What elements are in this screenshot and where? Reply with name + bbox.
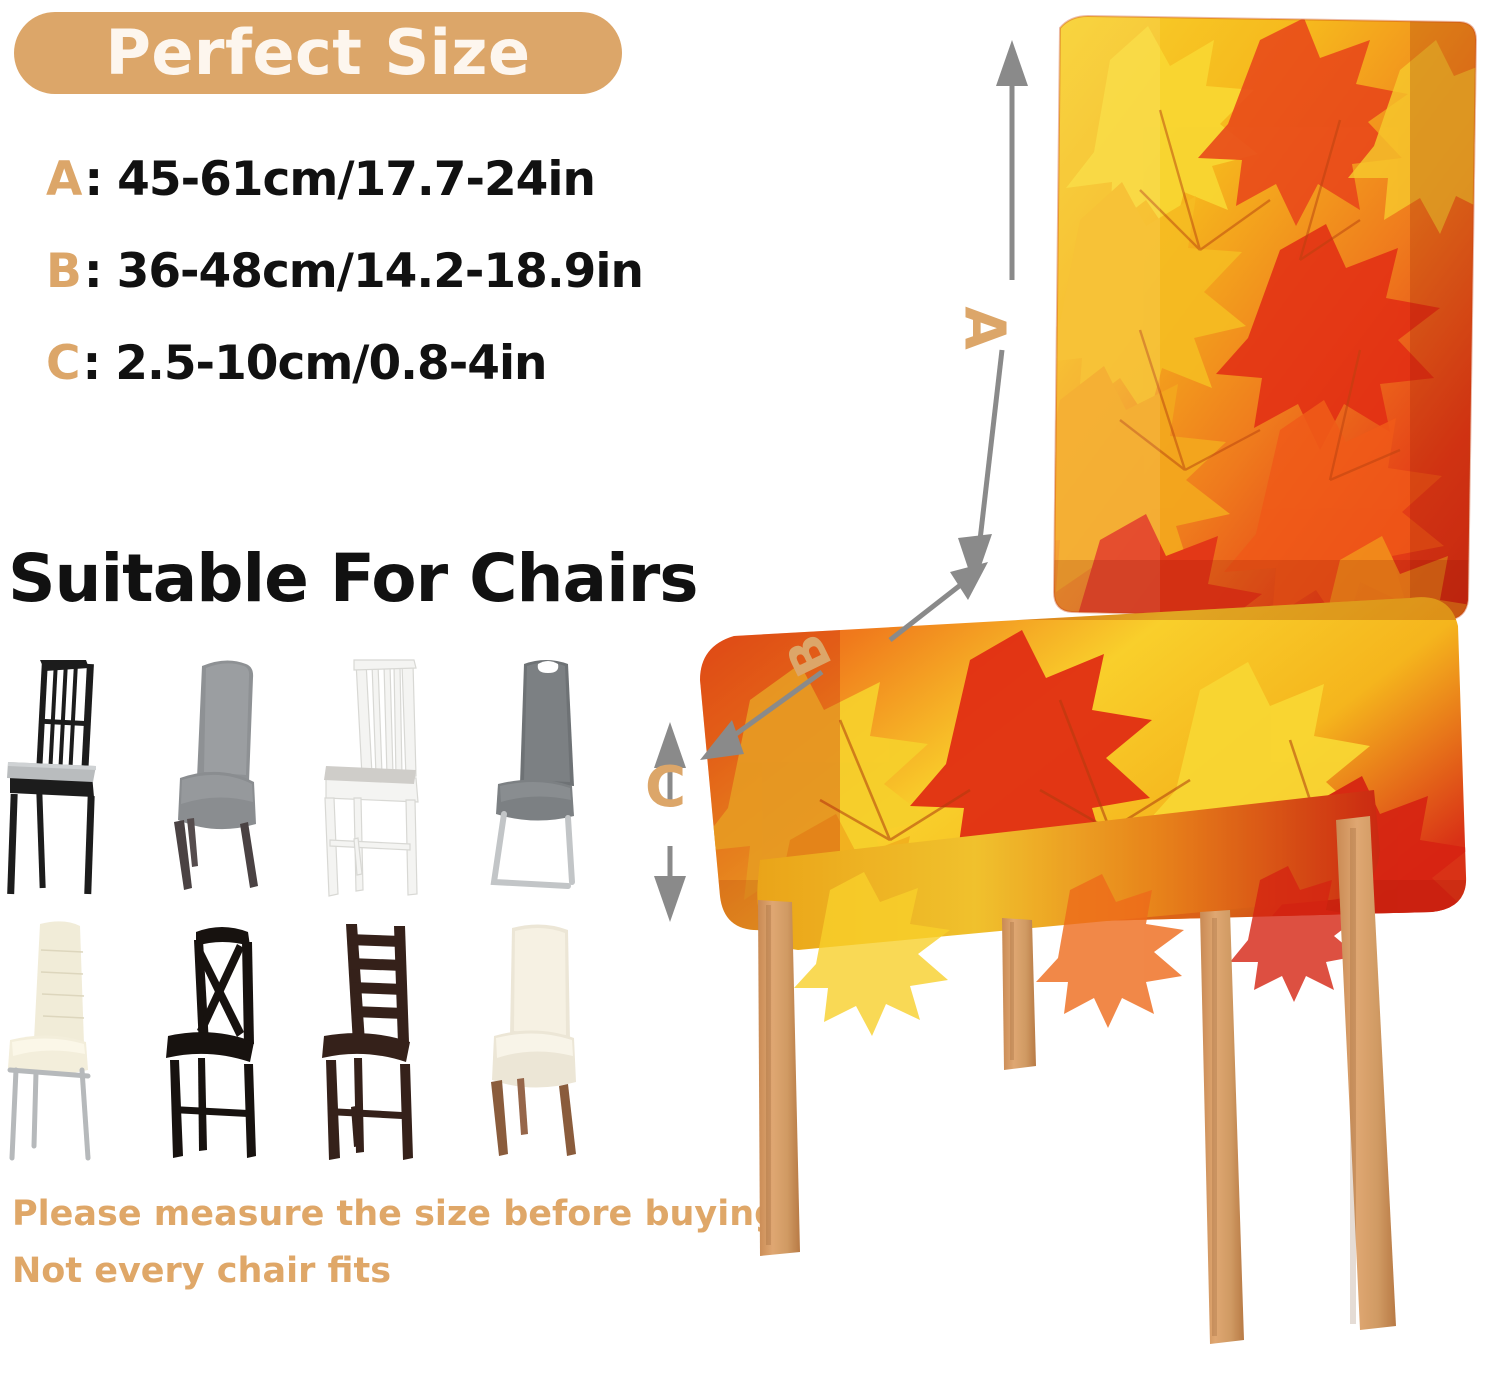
- dimension-sep-c: :: [83, 336, 102, 391]
- measurement-label-a: A: [956, 306, 1012, 349]
- dimension-value-c: 2.5-10cm/0.8-4in: [115, 336, 546, 391]
- dimension-row-a: A : 45-61cm/17.7-24in: [46, 152, 656, 244]
- arrow-b-head-right: [950, 562, 988, 600]
- chair-thumb-black-cross-back: [160, 910, 320, 1178]
- chair-thumb-grey-cantilever: [480, 642, 640, 910]
- product-infographic: Perfect Size A : 45-61cm/17.7-24in B : 3…: [0, 0, 1500, 1381]
- suitable-for-chairs-heading: Suitable For Chairs: [8, 540, 698, 617]
- disclaimer-block: Please measure the size before buying No…: [12, 1186, 692, 1300]
- leg-front-right: [1200, 910, 1244, 1344]
- dimension-list: A : 45-61cm/17.7-24in B : 36-48cm/14.2-1…: [46, 152, 656, 428]
- perfect-size-badge: Perfect Size: [14, 12, 622, 94]
- dimension-key-c: C: [46, 336, 81, 391]
- arrow-a-upper-head: [996, 40, 1028, 86]
- arrow-c-lower-head: [654, 876, 686, 922]
- chair-thumb-black-slat-back: [0, 642, 160, 910]
- chair-gallery: [0, 642, 640, 1178]
- product-chair-illustration: [640, 0, 1500, 1381]
- chair-thumb-cream-slipcovered: [480, 910, 640, 1178]
- dimension-sep-b: :: [84, 244, 103, 299]
- dimension-key-a: A: [46, 152, 82, 207]
- chair-gallery-row-1: [0, 642, 640, 910]
- disclaimer-line-1: Please measure the size before buying: [12, 1186, 692, 1243]
- chair-thumb-cream-leather-chrome: [0, 910, 160, 1178]
- arrow-a-lower-shaft: [980, 350, 1002, 540]
- product-photo-area: [640, 0, 1500, 1381]
- leg-back-left: [1002, 918, 1036, 1070]
- chair-thumb-dark-ladder-back: [320, 910, 480, 1178]
- leg-front-left: [758, 900, 800, 1256]
- perfect-size-label: Perfect Size: [105, 22, 530, 84]
- dimension-row-c: C : 2.5-10cm/0.8-4in: [46, 336, 656, 428]
- dimension-row-b: B : 36-48cm/14.2-18.9in: [46, 244, 656, 336]
- dimension-value-a: 45-61cm/17.7-24in: [117, 152, 595, 207]
- chair-thumb-grey-upholstered: [160, 642, 320, 910]
- dimension-sep-a: :: [84, 152, 103, 207]
- chair-gallery-row-2: [0, 910, 640, 1178]
- disclaimer-line-2: Not every chair fits: [12, 1243, 692, 1300]
- chair-thumb-white-slat-back: [320, 642, 480, 910]
- measurement-label-c: C: [645, 760, 686, 816]
- dimension-key-b: B: [46, 244, 82, 299]
- dimension-value-b: 36-48cm/14.2-18.9in: [117, 244, 643, 299]
